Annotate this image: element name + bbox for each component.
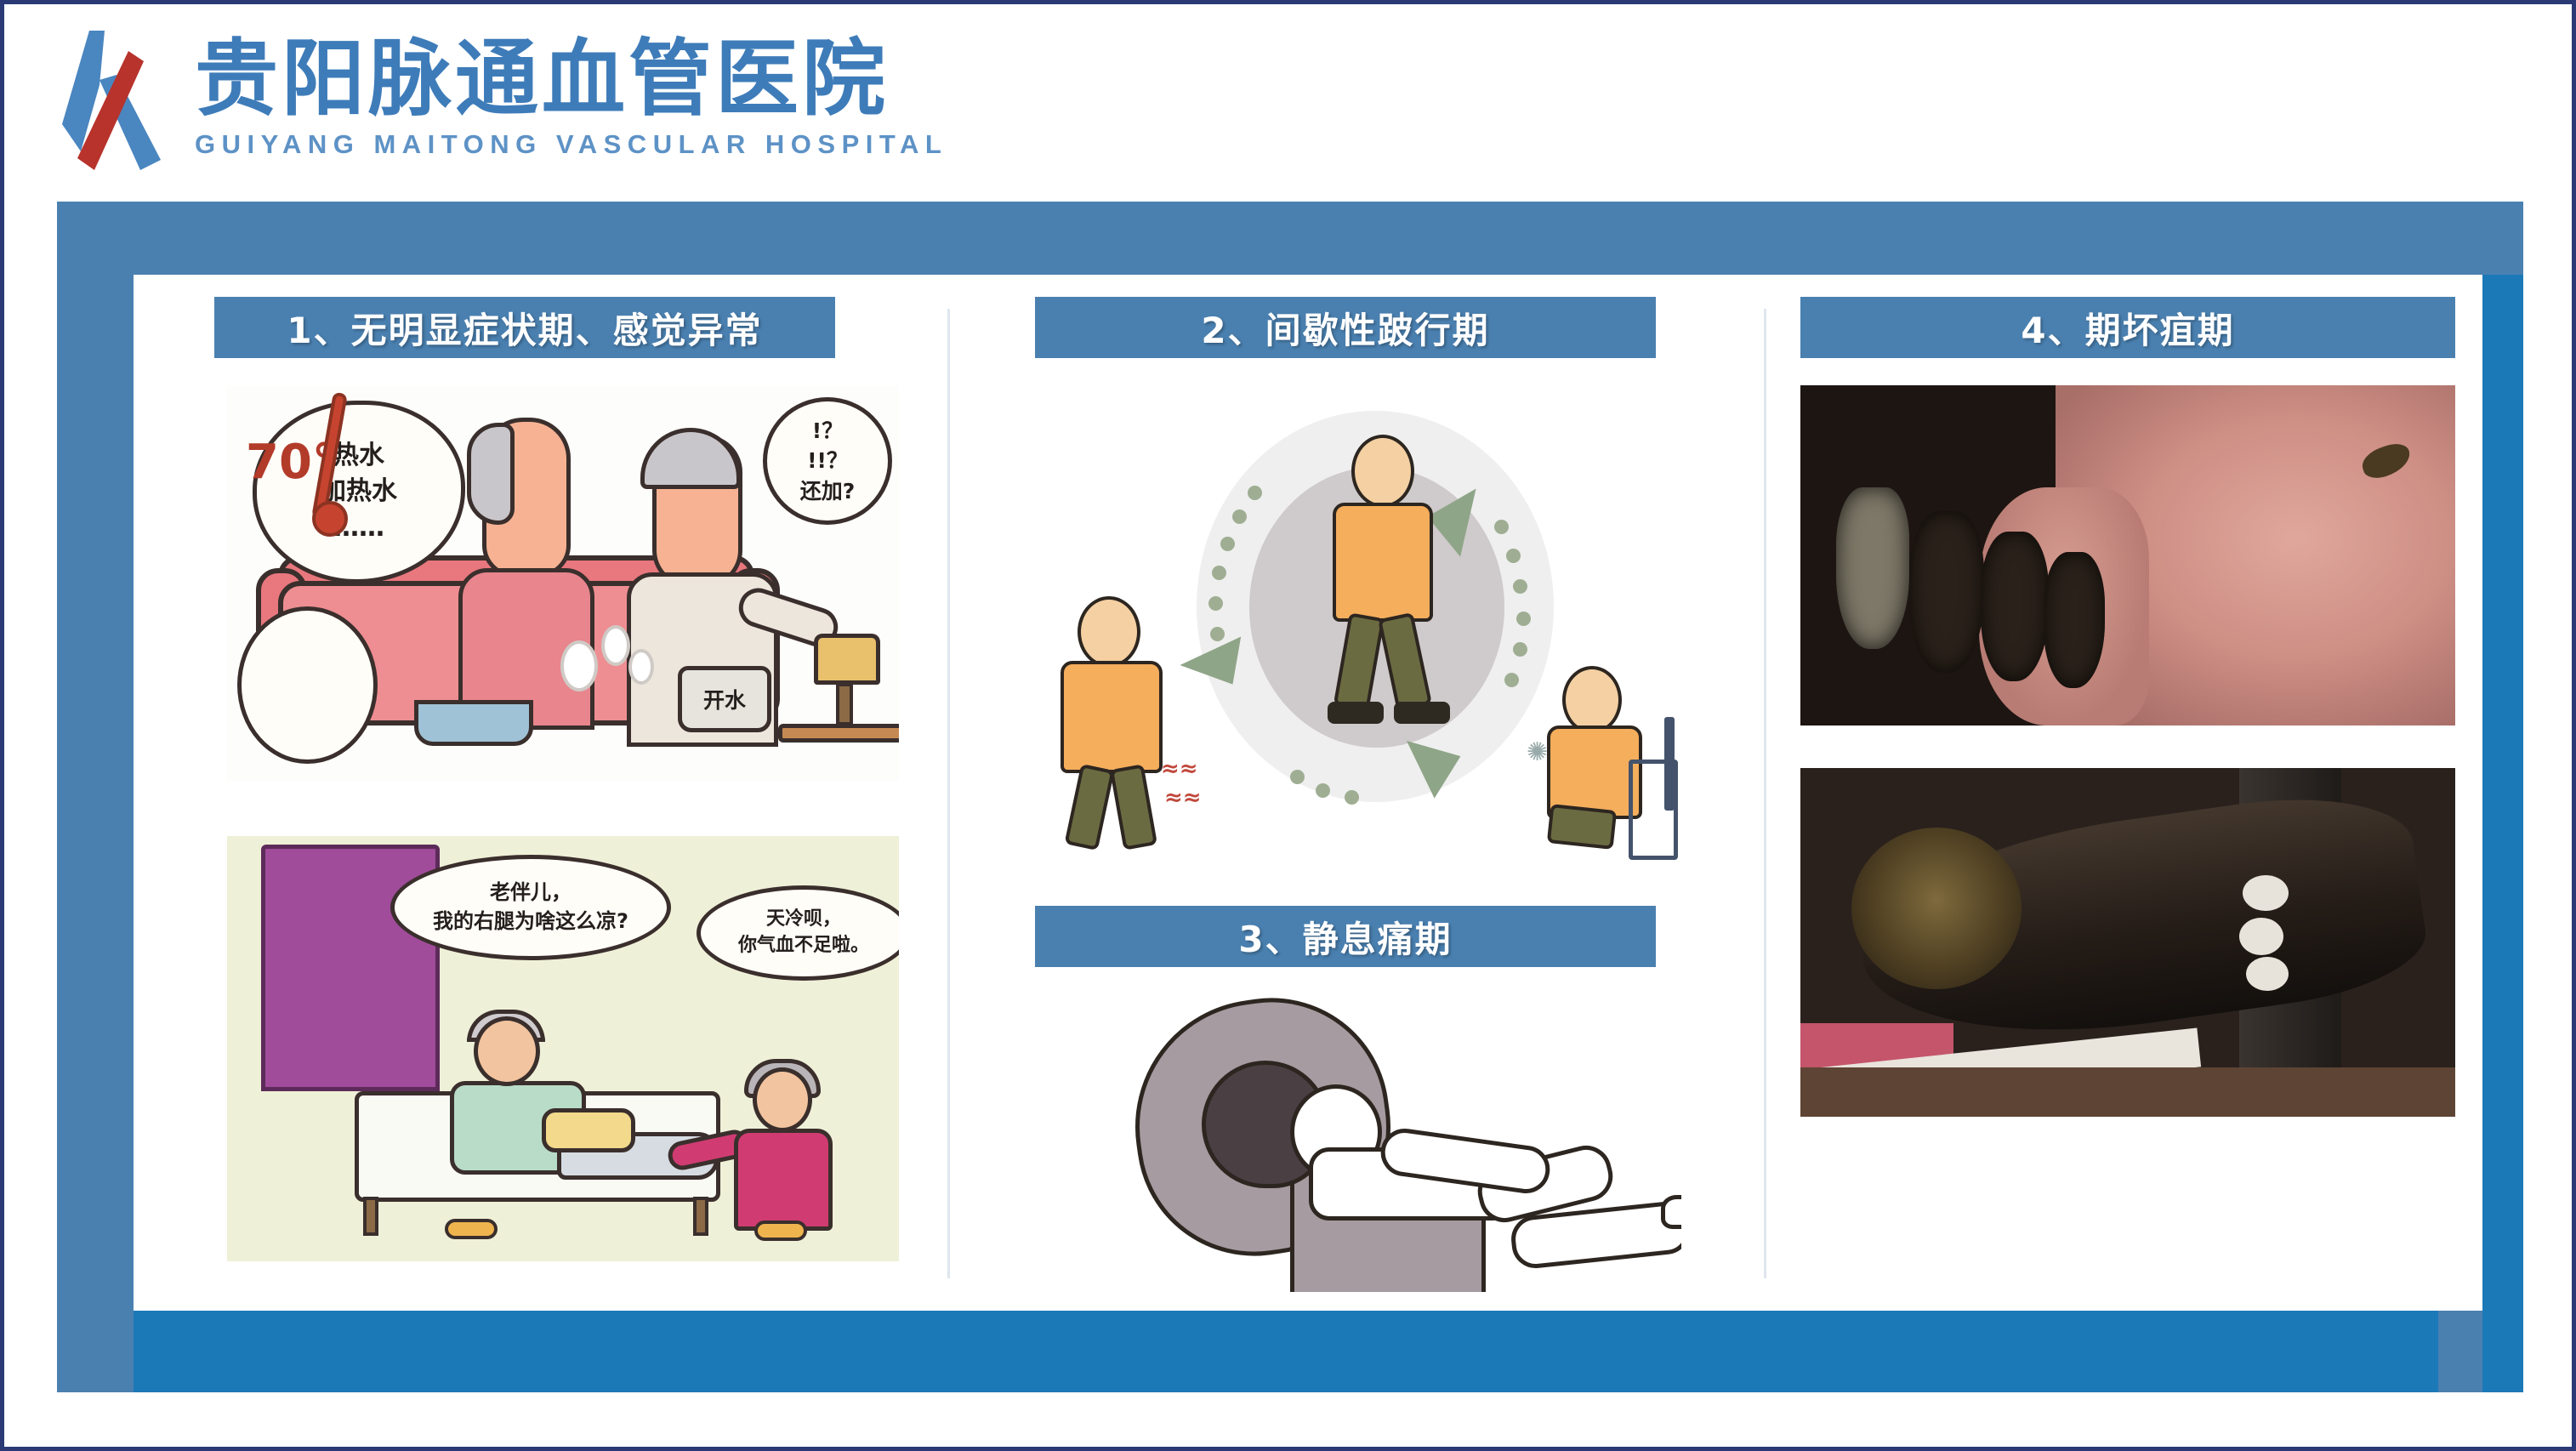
- cycle-dot: [1232, 509, 1247, 524]
- brand-name-en: GUIYANG MAITONG VASCULAR HOSPITAL: [195, 129, 947, 160]
- brand-name-cn: 贵阳脉通血管医院: [195, 36, 947, 124]
- stage-column-3: 4、期坏疽期: [1766, 275, 2482, 1311]
- figure-leg-front: [1378, 612, 1432, 711]
- thermometer-bulb: [312, 501, 348, 537]
- cycle-dot: [1516, 612, 1531, 626]
- stage-4-title-bar: 4、期坏疽期: [1800, 297, 2455, 358]
- cycle-dot: [1506, 549, 1521, 563]
- side-table: [778, 724, 899, 743]
- cycle-dot: [1290, 770, 1305, 784]
- speech-line-2: 我的右腿为啥这么凉?: [433, 908, 628, 936]
- speech-line-2: !!？: [807, 446, 848, 476]
- content-plate: 1、无明显症状期、感觉异常: [134, 275, 2482, 1311]
- figure-head: [1078, 596, 1140, 668]
- figure-leg-back: [1064, 764, 1114, 851]
- frame-top-band: [57, 202, 2523, 275]
- wife-body: [734, 1129, 833, 1231]
- gauze-pad: [2246, 957, 2289, 991]
- necrotic-toe: [1836, 487, 1909, 649]
- steam-puff: [601, 625, 630, 666]
- pain-indicator-icon: ≈≈: [1164, 785, 1202, 811]
- cycle-dot: [1513, 642, 1527, 657]
- bed-leg-left: [363, 1197, 378, 1236]
- stage-2-title-bar: 2、间歇性跛行期: [1035, 297, 1656, 358]
- illustration-intermittent-claudication: ≈≈ ≈≈ ✺: [1035, 385, 1681, 862]
- pillow: [542, 1108, 635, 1152]
- figure-shoe: [1328, 702, 1384, 724]
- frame-right-bar: [2482, 202, 2523, 1392]
- speech-line-1: 老伴儿，: [490, 879, 571, 908]
- figure-shoe: [1394, 702, 1450, 724]
- figure-limping-in-pain: ≈≈ ≈≈: [1052, 596, 1205, 851]
- infographic-page: 贵阳脉通血管医院 GUIYANG MAITONG VASCULAR HOSPIT…: [0, 0, 2576, 1451]
- chair-backrest: [1664, 717, 1675, 811]
- hospital-logo-icon: [55, 24, 166, 173]
- photo-necrotic-leg: [1800, 768, 2455, 1117]
- speech-bubble-wife: 天冷呗， 你气血不足啦。: [697, 885, 899, 981]
- seated-man-hair: [467, 423, 515, 525]
- figure-coat: [1333, 503, 1433, 622]
- steam-puff: [628, 649, 654, 685]
- cycle-dot: [1316, 783, 1330, 798]
- necrotic-toe: [2044, 552, 2105, 688]
- frame-left-band: [57, 202, 134, 1392]
- brand-text-block: 贵阳脉通血管医院 GUIYANG MAITONG VASCULAR HOSPIT…: [195, 36, 947, 160]
- frame-bottom-bar: [57, 1311, 2523, 1392]
- stage-column-2: 2、间歇性跛行期: [950, 275, 1766, 1311]
- cycle-dot: [1513, 579, 1527, 594]
- slipper-left: [445, 1219, 498, 1239]
- kettle-label: 开水: [678, 666, 771, 732]
- thermometer-callout: [237, 606, 378, 764]
- lamp-shade: [814, 634, 880, 685]
- slipper-right: [754, 1221, 807, 1241]
- illustration-cold-leg-bedroom: 老伴儿， 我的右腿为啥这么凉? 天冷呗， 你气血不足啦。: [227, 836, 899, 1261]
- figure-resting-on-chair: ✺: [1537, 666, 1681, 862]
- cycle-dot: [1212, 566, 1226, 580]
- stage-columns: 1、无明显症状期、感觉异常: [134, 275, 2482, 1311]
- cycle-dot: [1345, 790, 1359, 805]
- pain-indicator-icon: ≈≈: [1161, 756, 1198, 782]
- husband-head: [474, 1016, 540, 1086]
- speech-bubble-surprise: !？ !!？ 还加?: [763, 397, 892, 525]
- foot-basin: [414, 700, 533, 746]
- stage-3-title-bar: 3、静息痛期: [1035, 906, 1656, 967]
- speech-line-1: 热水: [333, 438, 384, 475]
- necrotic-toe: [1981, 532, 2049, 681]
- breath-puff-icon: ✺: [1527, 737, 1548, 767]
- stage-column-1: 1、无明显症状期、感觉异常: [134, 275, 950, 1311]
- wood-surface: [1800, 1067, 2455, 1117]
- cycle-dot: [1220, 537, 1235, 551]
- steam-puff: [560, 640, 598, 691]
- gauze-pad: [2243, 875, 2289, 911]
- illustration-rest-pain: [1035, 994, 1681, 1292]
- speech-line-2: 你气血不足啦。: [738, 933, 869, 959]
- cycle-dot: [1504, 673, 1519, 687]
- stages-board: 1、无明显症状期、感觉异常: [57, 202, 2523, 1392]
- cycle-dot: [1248, 486, 1262, 500]
- figure-head: [1351, 435, 1414, 508]
- wife-head: [753, 1067, 812, 1132]
- speech-line-1: !？: [812, 416, 843, 447]
- speech-line-1: 天冷呗，: [766, 907, 841, 933]
- figure-leg-front: [1110, 764, 1157, 850]
- figure-head: [1562, 666, 1622, 734]
- person-foot: [1661, 1195, 1681, 1229]
- lamp-base: [836, 683, 853, 725]
- speech-bubble-husband: 老伴儿， 我的右腿为啥这么凉?: [390, 855, 671, 960]
- figure-leg-back: [1333, 612, 1385, 711]
- speech-bubble-hot-water: 热水 加热水 ……: [253, 401, 465, 583]
- illustration-hot-water-soak: 热水 加热水 …… !？ !!？ 还加? 70°: [227, 385, 899, 781]
- figure-leg: [1547, 804, 1617, 850]
- hospital-brand-header: 贵阳脉通血管医院 GUIYANG MAITONG VASCULAR HOSPIT…: [55, 13, 947, 183]
- cycle-dot: [1208, 596, 1223, 611]
- figure-coat: [1061, 661, 1163, 773]
- gauze-pad: [2239, 918, 2283, 955]
- standing-woman-hair: [640, 428, 741, 489]
- bed-leg-right: [693, 1197, 708, 1236]
- photo-gangrene-toes: [1800, 385, 2455, 725]
- speech-line-3: 还加?: [800, 476, 856, 507]
- necrotic-wound: [1851, 828, 2022, 989]
- stage-1-title-bar: 1、无明显症状期、感觉异常: [214, 297, 835, 358]
- figure-walking-normal: [1316, 435, 1469, 741]
- necrotic-toe: [1909, 511, 1984, 673]
